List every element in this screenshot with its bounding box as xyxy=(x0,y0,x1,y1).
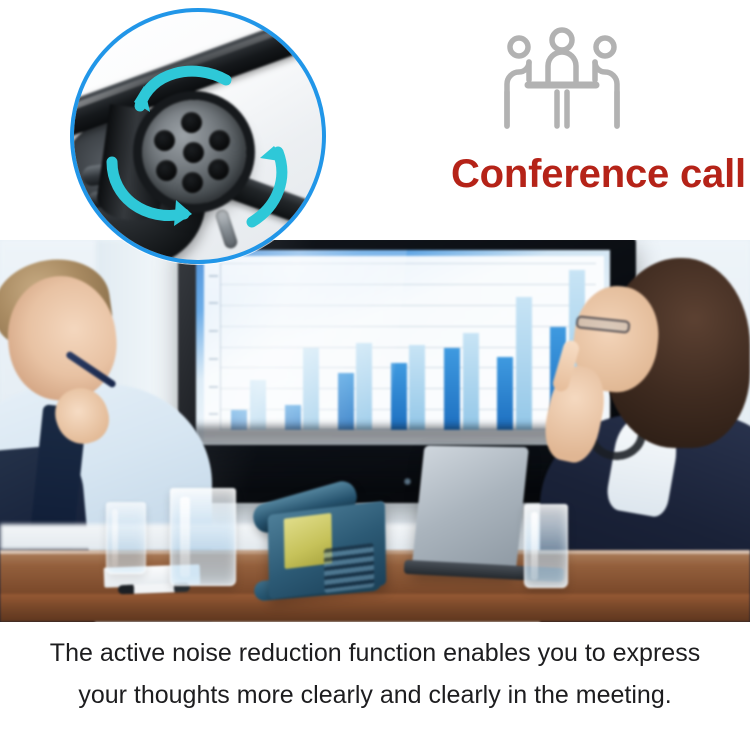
mic-hole xyxy=(154,130,175,151)
three-people-at-table-icon xyxy=(498,22,626,130)
water-glass xyxy=(106,502,146,574)
caption-text: The active noise reduction function enab… xyxy=(0,632,750,716)
laptop xyxy=(411,445,529,574)
phone-keypad xyxy=(324,543,374,593)
chart-bar xyxy=(516,297,532,430)
page-title: Conference call xyxy=(451,152,746,197)
chart-bar xyxy=(497,357,513,430)
conference-room-meeting-photo xyxy=(0,240,750,622)
chart-bar xyxy=(444,348,460,430)
caption-line-2: your thoughts more clearly and clearly i… xyxy=(0,674,750,716)
inset-circle-frame xyxy=(70,8,326,264)
table-front-face xyxy=(0,594,750,622)
screen-glare xyxy=(196,250,409,445)
rotation-arrow-bottom-icon xyxy=(102,152,198,238)
chart-bar xyxy=(409,345,425,430)
product-marketing-banner: Conference call xyxy=(0,0,750,750)
chart-bar xyxy=(463,333,479,430)
water-glass xyxy=(170,488,236,586)
product-detail-inset xyxy=(70,8,326,264)
caption-line-1: The active noise reduction function enab… xyxy=(50,639,700,667)
rotation-arrow-top-icon xyxy=(128,54,238,124)
rotation-arrow-right-icon xyxy=(216,140,296,236)
water-glass xyxy=(524,504,568,588)
